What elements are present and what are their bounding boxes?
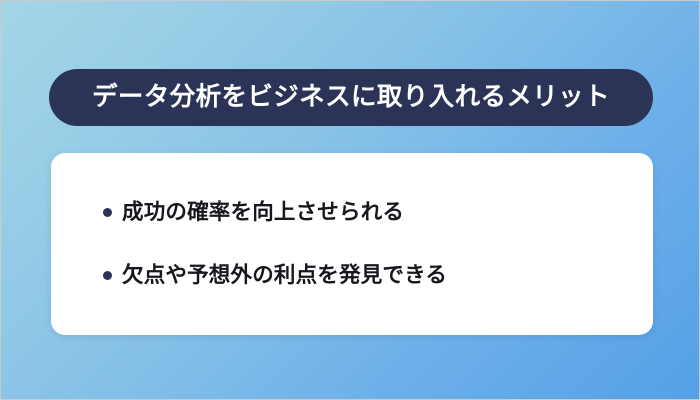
list-item: 成功の確率を向上させられる	[103, 200, 625, 225]
list-item: 欠点や予想外の利点を発見できる	[103, 263, 625, 288]
list-item-label: 欠点や予想外の利点を発見できる	[122, 263, 447, 288]
benefits-list: 成功の確率を向上させられる 欠点や予想外の利点を発見できる	[103, 200, 625, 287]
bullet-dot-icon	[103, 271, 112, 280]
slide-title-pill: データ分析をビジネスに取り入れるメリット	[49, 69, 653, 126]
bullet-dot-icon	[103, 208, 112, 217]
list-item-label: 成功の確率を向上させられる	[122, 200, 404, 225]
page-title: データ分析をビジネスに取り入れるメリット	[92, 85, 610, 111]
content-card: 成功の確率を向上させられる 欠点や予想外の利点を発見できる	[51, 153, 653, 335]
slide-canvas: データ分析をビジネスに取り入れるメリット 成功の確率を向上させられる 欠点や予想…	[0, 0, 700, 400]
